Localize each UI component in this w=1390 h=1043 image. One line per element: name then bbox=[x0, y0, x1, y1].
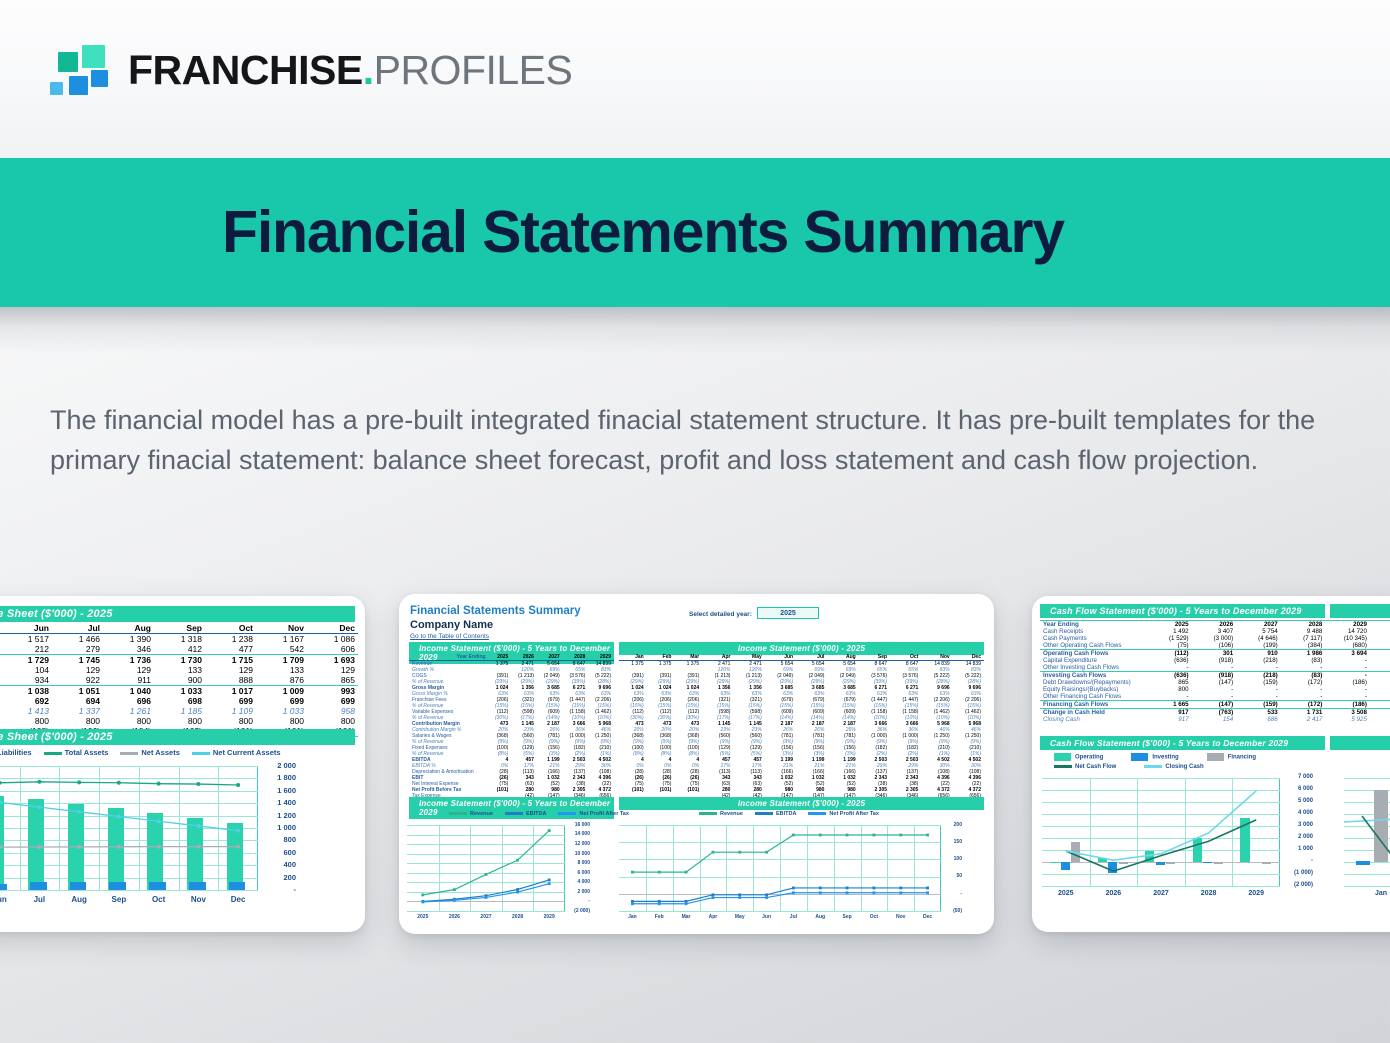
chart-bar bbox=[30, 882, 47, 890]
table-cell: 1 492 bbox=[1147, 628, 1192, 635]
legend-item: Investing bbox=[1131, 753, 1178, 761]
chart-bar bbox=[0, 796, 4, 890]
chart-bar bbox=[229, 882, 246, 890]
balance-sheet-chart-title: Balance Sheet ($'000) - 2025 bbox=[0, 729, 355, 745]
table-cell: (10 345) bbox=[1325, 635, 1370, 642]
table-cell: 922 bbox=[52, 675, 103, 686]
row-label: Change in Cash Held bbox=[1040, 709, 1147, 717]
gridline bbox=[861, 825, 862, 911]
balance-sheet-table-title: Balance Sheet ($'000) - 2025 bbox=[0, 606, 355, 622]
table-cell: 993 bbox=[307, 686, 358, 697]
table-cell: (159) bbox=[1236, 679, 1281, 686]
table-row: 703692694696698699699699 bbox=[0, 696, 358, 706]
legend-item: Net Profit After Tax bbox=[558, 811, 629, 817]
row-label: Equity Raisings/(Buybacks) bbox=[1040, 686, 1147, 693]
table-cell: (918) bbox=[1192, 672, 1237, 680]
legend-label: EBITDA bbox=[526, 811, 546, 817]
legend-item: Operating bbox=[1054, 753, 1103, 761]
table-cell: 1 086 bbox=[307, 634, 358, 645]
legend-item: Closing Cash bbox=[1144, 764, 1203, 770]
table-cell: 1 040 bbox=[103, 686, 154, 697]
doc-title: Financial Statements Summary bbox=[410, 605, 581, 617]
table-cell: 129 bbox=[205, 665, 256, 675]
y-axis-tick: - bbox=[1283, 858, 1313, 864]
table-cell: 1 033 bbox=[256, 706, 307, 716]
table-cell: 888 bbox=[205, 675, 256, 686]
table-row: 800800800800800800800800 bbox=[0, 716, 358, 726]
chart-bar bbox=[1108, 862, 1117, 873]
table-cell: 129 bbox=[307, 665, 358, 675]
table-cell: 1 033 bbox=[154, 686, 205, 697]
table-cell: - bbox=[1192, 693, 1237, 701]
table-cell: 1 693 bbox=[307, 655, 358, 666]
legend-item: Net Cash Flow bbox=[1054, 764, 1116, 770]
table-cell: 1 337 bbox=[52, 706, 103, 716]
legend-label: Investing bbox=[1152, 755, 1178, 761]
table-cell: 542 bbox=[256, 644, 307, 655]
table-cell: 1 261 bbox=[103, 706, 154, 716]
plot-area bbox=[407, 825, 565, 911]
gridline bbox=[753, 825, 754, 911]
table-cell: 3 407 bbox=[1192, 628, 1237, 635]
chart-bar bbox=[1098, 858, 1107, 862]
y-axis-tick: - bbox=[944, 891, 962, 897]
x-axis-tick: 2027 bbox=[470, 914, 502, 920]
table-cell: 5 754 bbox=[1236, 628, 1281, 635]
row-label: Capital Expenditure bbox=[1040, 657, 1147, 664]
legend-item: ...urrent Liabilities bbox=[0, 748, 32, 757]
gridline bbox=[1137, 778, 1138, 886]
y-axis-tick: 4 000 bbox=[1283, 810, 1313, 816]
table-cell: 1 736 bbox=[103, 655, 154, 666]
table-cell: 1 729 bbox=[1, 655, 52, 666]
table-row: Other Investing Cash Flows------ bbox=[1040, 664, 1390, 672]
table-cell: (83) bbox=[1281, 672, 1326, 680]
balance-sheet-chart-legend: ...urrent LiabilitiesTotal AssetsNet Ass… bbox=[0, 748, 281, 757]
gridline bbox=[99, 766, 100, 890]
y-axis-tick: 8 000 bbox=[568, 860, 590, 866]
gridline bbox=[1090, 778, 1091, 886]
table-cell: 2027 bbox=[1236, 621, 1281, 629]
chart-bar-financing bbox=[1374, 790, 1388, 862]
x-axis-tick: Jun bbox=[0, 895, 20, 904]
table-cell: - bbox=[1192, 686, 1237, 693]
band-shadow bbox=[0, 307, 1390, 353]
table-cell-jan: - bbox=[1386, 693, 1390, 701]
row-label: Investing Cash Flows bbox=[1040, 672, 1147, 680]
legend-item: Total Assets bbox=[44, 748, 109, 757]
table-cell: 133 bbox=[154, 665, 205, 675]
table-cell: (763) bbox=[1192, 709, 1237, 717]
income-monthly-chart-title: Income Statement ($'000) - 2025 bbox=[619, 797, 984, 810]
table-cell-jan: (36) bbox=[1386, 672, 1390, 680]
gridline bbox=[1185, 778, 1186, 886]
table-cell: 1 413 bbox=[1, 706, 52, 716]
legend-label: Revenue bbox=[470, 811, 493, 817]
legend-item: Net Profit After Tax bbox=[808, 811, 879, 817]
table-cell: 129 bbox=[103, 665, 154, 675]
y-axis-tick: 3 000 bbox=[1283, 822, 1313, 828]
table-cell: 696 bbox=[103, 696, 154, 706]
y-axis-tick: (50) bbox=[944, 908, 962, 914]
y-axis-tick: 150 bbox=[944, 839, 962, 845]
table-row: Debt Drawdowns/(Repayments)865(147)(159)… bbox=[1040, 679, 1390, 686]
row-label: Cash Payments bbox=[1040, 635, 1147, 642]
table-row: 101104129129133129133129 bbox=[0, 665, 358, 675]
table-cell: (147) bbox=[1192, 701, 1237, 709]
spacer-cell bbox=[1370, 716, 1386, 723]
legend-label: Net Profit After Tax bbox=[829, 811, 879, 817]
x-axis-tick: Dec bbox=[218, 895, 258, 904]
x-axis-tick: Aug bbox=[807, 914, 834, 920]
table-cell: (918) bbox=[1192, 657, 1237, 664]
table-row: Cash Receipts1 4923 4075 7549 48814 7203… bbox=[1040, 628, 1390, 635]
year-selector-input[interactable]: 2025 bbox=[757, 607, 819, 619]
y-axis-tick: 1 000 bbox=[1283, 846, 1313, 852]
balance-sheet-card[interactable]: Balance Sheet ($'000) - 2025 MayJunJulAu… bbox=[0, 596, 365, 932]
table-cell: (186) bbox=[1325, 679, 1370, 686]
chart-bar bbox=[1071, 842, 1080, 862]
table-cell: (636) bbox=[1147, 657, 1192, 664]
table-cell: 694 bbox=[52, 696, 103, 706]
gridline bbox=[218, 766, 219, 890]
table-cell: (83) bbox=[1281, 657, 1326, 664]
table-row: Financing Cash Flows1 665(147)(159)(172)… bbox=[1040, 701, 1390, 709]
x-axis-tick: 2029 bbox=[533, 914, 565, 920]
spacer-cell bbox=[1370, 709, 1386, 717]
y-axis-tick: 200 bbox=[262, 873, 296, 882]
table-cell: (384) bbox=[1281, 642, 1326, 650]
x-axis-tick: Oct bbox=[139, 895, 179, 904]
cash-flow-chart[interactable]: (2 000)(1 000)-1 0002 0003 0004 0005 000… bbox=[1040, 774, 1325, 924]
gridline bbox=[1042, 874, 1280, 875]
y-axis-tick: 400 bbox=[262, 860, 296, 869]
year-selector-label: Select detailed year: bbox=[689, 611, 752, 618]
table-row: 178212279346412477542606 bbox=[0, 644, 358, 655]
gridline bbox=[0, 890, 258, 891]
row-label: Other Financing Cash Flows bbox=[1040, 693, 1147, 701]
legend-label: Total Assets bbox=[65, 748, 109, 757]
table-cell: 1 731 bbox=[1281, 709, 1326, 717]
table-row: 1 0451 0381 0511 0401 0331 0171 009993 bbox=[0, 686, 358, 697]
x-axis-tick: 2028 bbox=[1185, 890, 1233, 897]
gridline bbox=[887, 825, 888, 911]
gridline bbox=[1344, 778, 1390, 779]
income-monthly-chart[interactable]: (50)-50100150200JanFebMarAprMayJunJulAug… bbox=[617, 821, 987, 931]
y-axis-tick: 2 000 bbox=[1283, 834, 1313, 840]
table-cell: 917 bbox=[1147, 716, 1192, 723]
spacer-cell bbox=[1370, 621, 1386, 629]
y-axis-tick: 16 000 bbox=[568, 822, 590, 828]
spacer-cell bbox=[1370, 679, 1386, 686]
y-axis-tick: 800 bbox=[262, 835, 296, 844]
legend-label: Operating bbox=[1075, 755, 1103, 761]
table-cell: 800 bbox=[1147, 686, 1192, 693]
x-axis-tick: Aug bbox=[59, 895, 99, 904]
table-cell: 533 bbox=[1236, 709, 1281, 717]
table-cell: 800 bbox=[307, 716, 358, 726]
x-axis-tick: Nov bbox=[179, 895, 219, 904]
table-cell: 1 517 bbox=[1, 634, 52, 645]
chart-bar bbox=[187, 818, 203, 890]
table-cell-jan: Jan bbox=[1386, 621, 1390, 629]
table-cell: 2 417 bbox=[1281, 716, 1326, 723]
column-header: Jul bbox=[52, 623, 103, 634]
table-cell: 129 bbox=[52, 665, 103, 675]
x-axis-tick: 2025 bbox=[1042, 890, 1090, 897]
table-cell: 876 bbox=[256, 675, 307, 686]
x-axis-tick: Oct bbox=[861, 914, 888, 920]
balance-sheet-chart[interactable]: -2004006008001 0001 2001 4001 6001 8002 … bbox=[0, 760, 365, 930]
legend-item: EBITDA bbox=[505, 811, 546, 817]
table-cell: (218) bbox=[1236, 672, 1281, 680]
column-header: Nov bbox=[256, 623, 307, 634]
x-axis-tick: Mar bbox=[673, 914, 700, 920]
table-cell: 800 bbox=[103, 716, 154, 726]
y-axis-tick: 100 bbox=[944, 856, 962, 862]
table-cell: - bbox=[1236, 664, 1281, 672]
cash-flow-table: Year Ending20252026202720282029JanCash R… bbox=[1040, 620, 1390, 723]
row-label: Cash Receipts bbox=[1040, 628, 1147, 635]
table-row: Operating Cash Flows(112)3019101 9863 69… bbox=[1040, 650, 1390, 658]
table-cell: (186) bbox=[1325, 701, 1370, 709]
table-row: Investing Cash Flows(636)(918)(218)(83)-… bbox=[1040, 672, 1390, 680]
table-cell: 1 665 bbox=[1147, 701, 1192, 709]
table-cell-jan: 1 789 bbox=[1386, 701, 1390, 709]
gridline bbox=[619, 911, 941, 912]
row-label: Other Operating Cash Flows bbox=[1040, 642, 1147, 650]
spacer-cell bbox=[1370, 628, 1386, 635]
table-cell-jan: (36) bbox=[1386, 657, 1390, 664]
y-axis-tick: 6 000 bbox=[1283, 786, 1313, 792]
y-axis-tick: (1 000) bbox=[1283, 870, 1313, 876]
row-label: Other Investing Cash Flows bbox=[1040, 664, 1147, 672]
table-of-contents-link[interactable]: Go to the Table of Contents bbox=[410, 633, 489, 640]
income-5y-chart[interactable]: (2 000)-2 0004 0006 0008 00010 00012 000… bbox=[405, 821, 613, 931]
brand-logo[interactable]: FRANCHISE.PROFILES bbox=[48, 44, 572, 96]
table-cell: 699 bbox=[205, 696, 256, 706]
y-axis-tick: 1 400 bbox=[262, 798, 296, 807]
chart-bar bbox=[1193, 838, 1202, 862]
income-monthly-table: JanFebMarAprMayJunJulAugSepOctNovDec1 37… bbox=[619, 654, 984, 811]
gridline bbox=[0, 778, 258, 779]
cash-flow-chart-legend: OperatingInvestingFinancingNet Cash Flow… bbox=[1054, 753, 1256, 770]
spacer-cell bbox=[1370, 642, 1386, 650]
column-header: Oct bbox=[205, 623, 256, 634]
spacer-cell bbox=[1370, 650, 1386, 658]
gridline bbox=[1344, 886, 1390, 887]
zero-line bbox=[619, 894, 941, 895]
y-axis-tick: 7 000 bbox=[1283, 774, 1313, 780]
y-axis-tick: 12 000 bbox=[568, 841, 590, 847]
x-axis-tick: Dec bbox=[914, 914, 941, 920]
legend-item: Net Current Assets bbox=[192, 748, 281, 757]
y-axis-tick: 5 000 bbox=[1283, 798, 1313, 804]
x-axis-tick: Jul bbox=[20, 895, 60, 904]
gridline bbox=[0, 791, 258, 792]
table-cell-jan: - bbox=[1386, 664, 1390, 672]
legend-label: Net Cash Flow bbox=[1075, 764, 1116, 770]
table-row: Equity Raisings/(Buybacks)800----800 bbox=[1040, 686, 1390, 693]
x-axis-tick: Jun bbox=[753, 914, 780, 920]
table-cell: (1 529) bbox=[1147, 635, 1192, 642]
y-axis-tick: - bbox=[568, 898, 590, 904]
legend-item: EBITDA bbox=[755, 811, 796, 817]
gridline bbox=[407, 882, 565, 883]
company-name: Company Name bbox=[410, 619, 493, 631]
table-cell: (7 117) bbox=[1281, 635, 1326, 642]
chart-bar bbox=[1203, 862, 1212, 863]
table-cell: (4 646) bbox=[1236, 635, 1281, 642]
table-cell: 900 bbox=[154, 675, 205, 686]
gridline bbox=[439, 825, 440, 911]
chart-bar bbox=[1156, 862, 1165, 865]
page-header: FRANCHISE.PROFILES bbox=[0, 0, 1390, 158]
table-cell: 1 715 bbox=[205, 655, 256, 666]
gridline bbox=[780, 825, 781, 911]
five-squares-logo-icon bbox=[48, 44, 110, 96]
gridline bbox=[407, 844, 565, 845]
gridline bbox=[0, 766, 258, 767]
x-axis-tick: Nov bbox=[887, 914, 914, 920]
table-cell: 800 bbox=[1, 716, 52, 726]
table-cell: 3 694 bbox=[1325, 650, 1370, 658]
gridline bbox=[914, 825, 915, 911]
table-cell: 911 bbox=[103, 675, 154, 686]
brand-name-light: PROFILES bbox=[374, 47, 573, 93]
income-statement-card[interactable]: Financial Statements Summary Company Nam… bbox=[399, 594, 994, 934]
chart-bar bbox=[1240, 818, 1249, 862]
chart-bar bbox=[1050, 862, 1059, 863]
row-label: Financing Cash Flows bbox=[1040, 701, 1147, 709]
table-cell: (680) bbox=[1325, 642, 1370, 650]
table-cell: 1 038 bbox=[1, 686, 52, 697]
gridline bbox=[1232, 778, 1233, 886]
chart-bar bbox=[1061, 862, 1070, 870]
brand-wordmark: FRANCHISE.PROFILES bbox=[128, 50, 572, 91]
chart-bar bbox=[189, 882, 206, 890]
table-cell: 910 bbox=[1236, 650, 1281, 658]
gridline bbox=[1042, 790, 1280, 791]
gridline bbox=[726, 825, 727, 911]
title-band: Financial Statements Summary bbox=[0, 158, 1390, 307]
y-axis-tick: 1 800 bbox=[262, 773, 296, 782]
table-cell: 104 bbox=[1, 665, 52, 675]
table-row: Capital Expenditure(636)(918)(218)(83)-(… bbox=[1040, 657, 1390, 664]
table-cell: 606 bbox=[307, 644, 358, 655]
table-cell: (636) bbox=[1147, 672, 1192, 680]
table-cell: 3 508 bbox=[1325, 709, 1370, 717]
income-5y-legend: RevenueEBITDANet Profit After Tax bbox=[449, 811, 629, 817]
table-cell: 1 009 bbox=[256, 686, 307, 697]
gridline bbox=[1042, 814, 1280, 815]
table-cell: 1 051 bbox=[52, 686, 103, 697]
table-cell-jan: (22) bbox=[1386, 650, 1390, 658]
y-axis-tick: 14 000 bbox=[568, 831, 590, 837]
gridline bbox=[1042, 778, 1280, 779]
table-cell: (218) bbox=[1236, 657, 1281, 664]
legend-item: Revenue bbox=[699, 811, 743, 817]
table-cell-jan: (47) bbox=[1386, 635, 1390, 642]
table-row: Other Operating Cash Flows(75)(106)(199)… bbox=[1040, 642, 1390, 650]
table-cell: (199) bbox=[1236, 642, 1281, 650]
chart-bar bbox=[70, 882, 87, 890]
table-cell: 1 185 bbox=[154, 706, 205, 716]
table-cell-jan: 1 731 bbox=[1386, 716, 1390, 723]
y-axis-tick: 2 000 bbox=[568, 889, 590, 895]
legend-row: OperatingInvestingFinancing bbox=[1054, 753, 1256, 761]
gridline bbox=[139, 766, 140, 890]
column-header: Sep bbox=[154, 623, 205, 634]
gridline bbox=[407, 835, 565, 836]
table-cell: 346 bbox=[103, 644, 154, 655]
table-cell: 800 bbox=[256, 716, 307, 726]
legend-label: Net Profit After Tax bbox=[579, 811, 629, 817]
gridline bbox=[807, 825, 808, 911]
y-axis-tick: (2 000) bbox=[1283, 882, 1313, 888]
x-axis-tick: Feb bbox=[646, 914, 673, 920]
row-label: Operating Cash Flows bbox=[1040, 650, 1147, 658]
cash-flow-card[interactable]: Cash Flow Statement ($'000) - 5 Years to… bbox=[1032, 596, 1390, 932]
table-cell: - bbox=[1236, 686, 1281, 693]
chart-bar bbox=[227, 823, 243, 890]
table-row: Closing Cash9171546862 4175 9251 731 bbox=[1040, 716, 1390, 723]
table-cell: - bbox=[1281, 693, 1326, 701]
chart-bar bbox=[1166, 862, 1175, 864]
table-cell: - bbox=[1325, 657, 1370, 664]
page-title: Financial Statements Summary bbox=[222, 203, 1064, 262]
table-row: 945934922911900888876865 bbox=[0, 675, 358, 686]
cash-flow-monthly-chart[interactable]: Jan bbox=[1330, 774, 1390, 924]
x-axis-tick: 2026 bbox=[439, 914, 471, 920]
table-cell: 865 bbox=[1147, 679, 1192, 686]
chart-bar bbox=[1119, 862, 1128, 864]
table-cell: 865 bbox=[307, 675, 358, 686]
table-cell: (112) bbox=[1147, 650, 1192, 658]
y-axis-tick: 10 000 bbox=[568, 851, 590, 857]
table-cell: 1 466 bbox=[52, 634, 103, 645]
chart-bar bbox=[149, 882, 166, 890]
chart-bar bbox=[1262, 862, 1271, 864]
zero-line bbox=[407, 901, 565, 902]
table-cell: 1 238 bbox=[205, 634, 256, 645]
spacer-cell bbox=[1370, 686, 1386, 693]
gridline bbox=[407, 873, 565, 874]
income-5y-table: Year Ending20252026202720282029Revenue1 … bbox=[409, 654, 614, 811]
legend-item: Revenue bbox=[449, 811, 493, 817]
gridline bbox=[646, 825, 647, 911]
x-axis-tick: Jul bbox=[780, 914, 807, 920]
chart-bar-investing bbox=[1356, 861, 1370, 865]
chart-bar bbox=[1145, 851, 1154, 862]
x-axis-tick: 2029 bbox=[1232, 890, 1280, 897]
table-cell: 1 745 bbox=[52, 655, 103, 666]
table-cell: 1 017 bbox=[205, 686, 256, 697]
table-cell: 800 bbox=[205, 716, 256, 726]
table-cell: - bbox=[1325, 672, 1370, 680]
x-axis-tick: May bbox=[726, 914, 753, 920]
brand-name-dot: . bbox=[363, 47, 374, 93]
spacer-cell bbox=[1370, 657, 1386, 664]
row-label: Year Ending bbox=[1040, 621, 1147, 629]
legend-label: Net Current Assets bbox=[213, 748, 281, 757]
x-axis-tick: 2025 bbox=[407, 914, 439, 920]
spacer-cell bbox=[1370, 701, 1386, 709]
table-cell: - bbox=[1147, 693, 1192, 701]
legend-row: Net Cash FlowClosing Cash bbox=[1054, 764, 1256, 770]
chart-bar bbox=[109, 882, 126, 890]
x-axis-tick: Sep bbox=[834, 914, 861, 920]
